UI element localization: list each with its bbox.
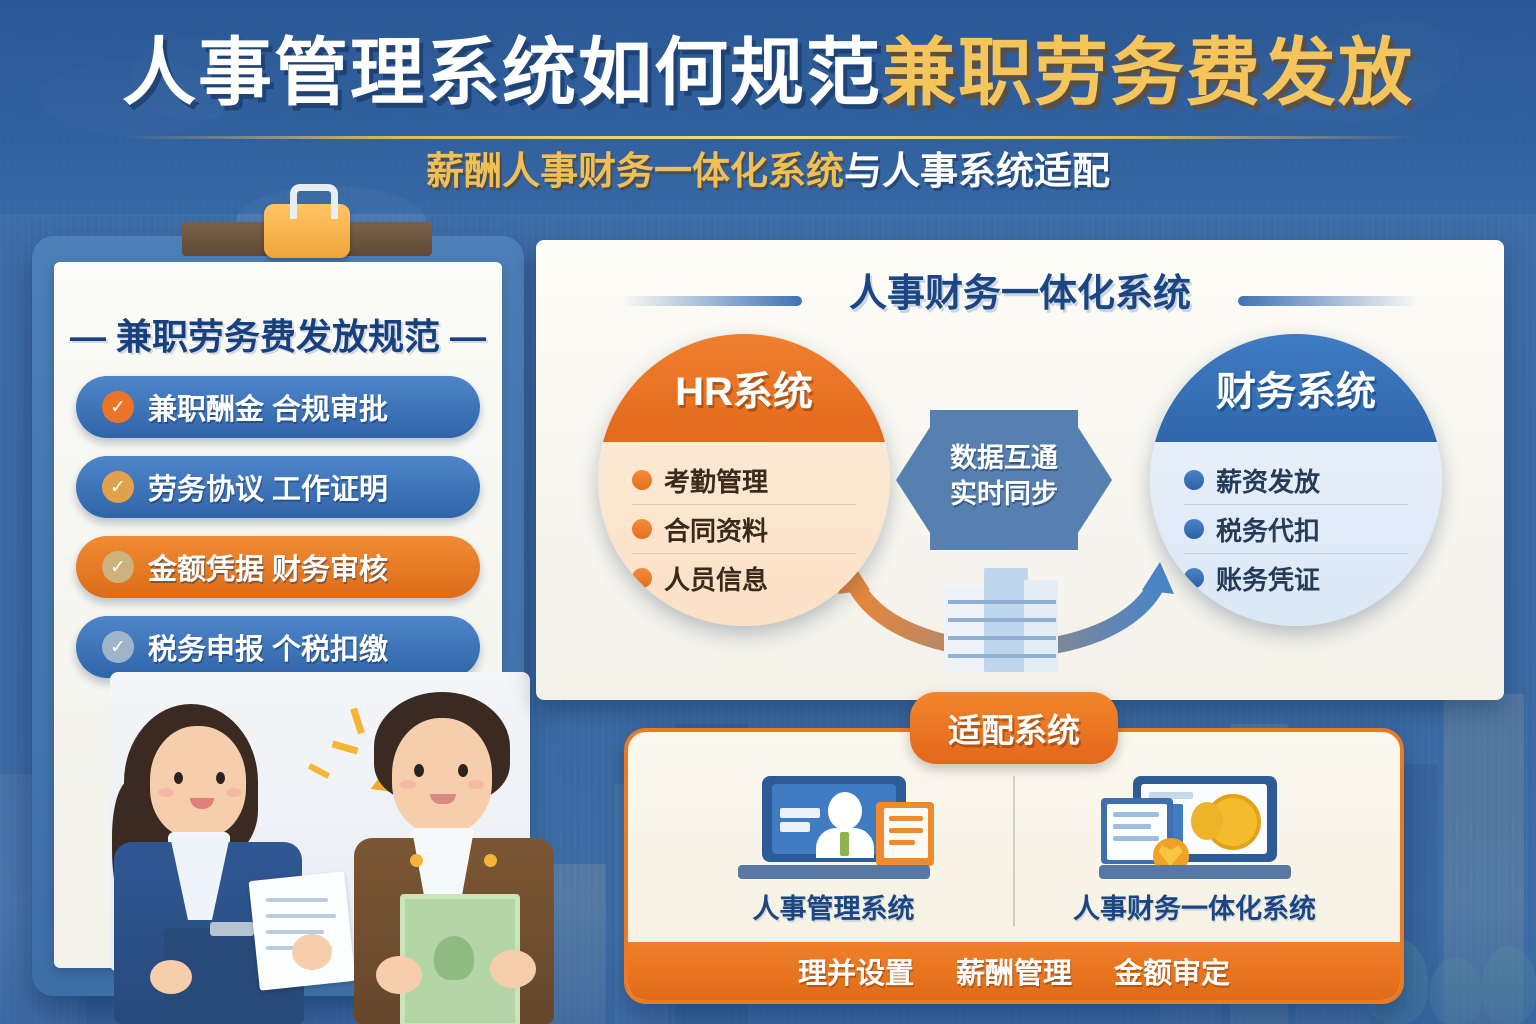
- list-item-label: 账务凭证: [1216, 560, 1320, 597]
- laptop-profile-icon: [734, 776, 934, 879]
- hr-system-list: 考勤管理 合同资料 人员信息: [632, 456, 856, 602]
- avatar-employee: [348, 688, 572, 1024]
- rule-item-label: 税务申报 个税扣缴: [148, 626, 388, 668]
- list-item-label: 薪资发放: [1216, 462, 1320, 499]
- office-building-icon: [944, 560, 1064, 672]
- clipboard-clip-icon: [264, 204, 350, 258]
- list-item: 合同资料: [632, 505, 856, 554]
- adaptation-badge: 适配系统: [910, 692, 1118, 764]
- adaptation-column-label: 人事财务一体化系统: [1073, 887, 1316, 926]
- rule-item-label: 金额凭据 财务审核: [148, 546, 388, 588]
- bullet-icon: [632, 568, 652, 588]
- laptop-payment-icon: [1095, 776, 1295, 879]
- infographic-poster: 人事管理系统如何规范兼职劳务费发放 薪酬人事财务一体化系统与人事系统适配 — 兼…: [0, 0, 1536, 1024]
- bullet-icon: [632, 519, 652, 539]
- bullet-icon: [1184, 519, 1204, 539]
- adaptation-column-finance[interactable]: 人事财务一体化系统: [1013, 776, 1374, 926]
- list-item: 税务代扣: [1184, 505, 1408, 554]
- list-item: 人员信息: [632, 554, 856, 602]
- check-icon: ✓: [102, 471, 134, 503]
- footer-tag: 薪酬管理: [956, 950, 1072, 992]
- sync-label-line2: 实时同步: [896, 476, 1112, 512]
- finance-system-list: 薪资发放 税务代扣 账务凭证: [1184, 456, 1408, 602]
- page-title-highlight: 兼职劳务费发放: [882, 31, 1414, 114]
- page-subtitle: 薪酬人事财务一体化系统与人事系统适配: [0, 148, 1536, 197]
- list-item: 考勤管理: [632, 456, 856, 505]
- list-item-label: 人员信息: [664, 560, 768, 597]
- page-subtitle-white: 与人事系统适配: [844, 151, 1110, 193]
- rule-item-1[interactable]: ✓ 兼职酬金 合规审批: [76, 376, 480, 438]
- list-item: 薪资发放: [1184, 456, 1408, 505]
- adaptation-card: 适配系统 人事管理系统: [624, 728, 1404, 1004]
- rule-item-3[interactable]: ✓ 金额凭据 财务审核: [76, 536, 480, 598]
- title-divider: [120, 136, 1416, 139]
- double-arrow-icon: 数据互通 实时同步: [896, 410, 1112, 550]
- rule-item-2[interactable]: ✓ 劳务协议 工作证明: [76, 456, 480, 518]
- list-item-label: 税务代扣: [1216, 511, 1320, 548]
- avatar-hr-officer: [106, 694, 336, 1024]
- bullet-icon: [1184, 470, 1204, 490]
- rule-item-label: 兼职酬金 合规审批: [148, 386, 388, 428]
- rule-item-label: 劳务协议 工作证明: [148, 466, 388, 508]
- page-subtitle-highlight: 薪酬人事财务一体化系统: [426, 151, 844, 193]
- finance-system-title: 财务系统: [1150, 334, 1442, 442]
- footer-tag: 理并设置: [798, 950, 914, 992]
- adaptation-column-hr[interactable]: 人事管理系统: [654, 776, 1013, 926]
- bullet-icon: [632, 470, 652, 490]
- sync-label: 数据互通 实时同步: [896, 440, 1112, 513]
- check-icon: ✓: [102, 631, 134, 663]
- adaptation-footer-tags: 理并设置 薪酬管理 金额审定: [628, 942, 1400, 1000]
- check-icon: ✓: [102, 391, 134, 423]
- check-icon: ✓: [102, 551, 134, 583]
- hr-system-title: HR系统: [598, 334, 890, 442]
- page-title-white: 人事管理系统如何规范: [122, 31, 882, 114]
- page-title: 人事管理系统如何规范兼职劳务费发放: [0, 36, 1536, 110]
- rule-item-4[interactable]: ✓ 税务申报 个税扣缴: [76, 616, 480, 678]
- finance-system-circle[interactable]: 财务系统 薪资发放 税务代扣 账务凭证: [1150, 334, 1442, 626]
- people-illustration: ★: [96, 672, 588, 1024]
- adaptation-columns: 人事管理系统: [654, 776, 1374, 926]
- sync-label-line1: 数据互通: [896, 440, 1112, 476]
- left-panel-heading: — 兼职劳务费发放规范 —: [54, 308, 502, 360]
- list-item-label: 考勤管理: [664, 462, 768, 499]
- right-system-panel: 人事财务一体化系统 HR系统: [536, 240, 1504, 700]
- footer-tag: 金额审定: [1114, 950, 1230, 992]
- bullet-icon: [1184, 568, 1204, 588]
- adaptation-column-label: 人事管理系统: [753, 887, 915, 926]
- header-banner: 人事管理系统如何规范兼职劳务费发放 薪酬人事财务一体化系统与人事系统适配: [0, 0, 1536, 214]
- right-panel-heading: 人事财务一体化系统: [536, 262, 1504, 317]
- list-item: 账务凭证: [1184, 554, 1408, 602]
- list-item-label: 合同资料: [664, 511, 768, 548]
- hr-system-circle[interactable]: HR系统 考勤管理 合同资料 人员信息: [598, 334, 890, 626]
